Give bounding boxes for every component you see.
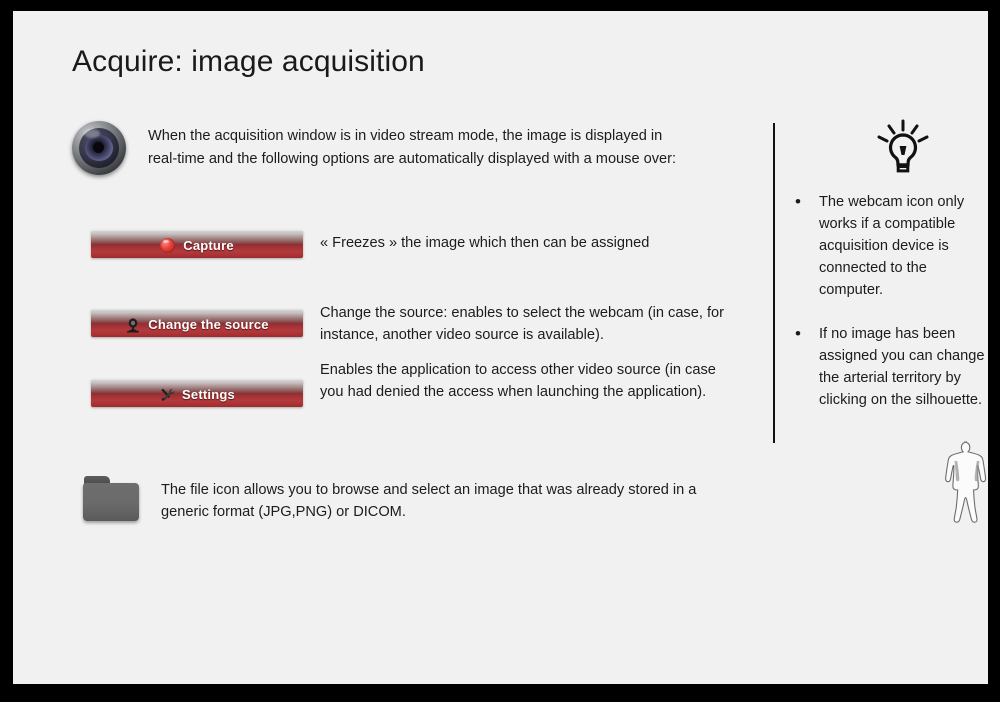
lens-glint <box>84 129 100 138</box>
lens-pupil <box>93 142 104 153</box>
file-description: The file icon allows you to browse and s… <box>161 479 721 523</box>
capture-button[interactable]: Capture <box>91 230 303 258</box>
settings-button-label: Settings <box>182 387 235 402</box>
wrench-screwdriver-icon <box>159 387 174 402</box>
folder-icon[interactable] <box>83 476 141 522</box>
change-source-button[interactable]: Change the source <box>91 309 303 337</box>
vertical-divider <box>773 123 775 443</box>
page-title: Acquire: image acquisition <box>72 45 425 79</box>
camera-lens-icon[interactable] <box>68 117 130 179</box>
webcam-device-icon <box>125 317 140 332</box>
capture-button-label: Capture <box>183 238 234 253</box>
capture-description: « Freezes » the image which then can be … <box>320 232 720 254</box>
bullet-icon: • <box>791 191 819 213</box>
change-source-button-label: Change the source <box>148 317 268 332</box>
list-item: • If no image has been assigned you can … <box>791 323 987 411</box>
human-silhouette-icon[interactable] <box>937 439 997 527</box>
lightbulb-icon <box>875 119 931 181</box>
slide-frame: Acquire: image acquisition When the acqu… <box>0 0 1000 702</box>
record-dot-icon <box>160 238 175 253</box>
tip-text: If no image has been assigned you can ch… <box>819 323 987 411</box>
tips-list: • The webcam icon only works if a compat… <box>791 191 987 433</box>
bullet-icon: • <box>791 323 819 345</box>
slide-canvas: Acquire: image acquisition When the acqu… <box>13 11 988 684</box>
settings-button[interactable]: Settings <box>91 379 303 407</box>
change-source-description: Change the source: enables to select the… <box>320 302 765 346</box>
tip-text: The webcam icon only works if a compatib… <box>819 191 987 301</box>
list-item: • The webcam icon only works if a compat… <box>791 191 987 301</box>
intro-paragraph: When the acquisition window is in video … <box>148 125 678 171</box>
folder-body <box>83 483 139 521</box>
settings-description: Enables the application to access other … <box>320 359 740 403</box>
